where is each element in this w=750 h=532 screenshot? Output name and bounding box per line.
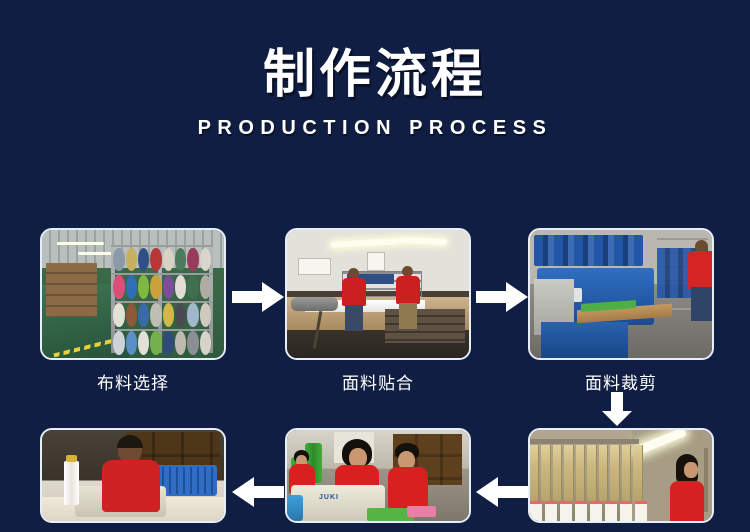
machine-rail	[530, 439, 639, 444]
step-caption-fabric-selection: 布料选择	[40, 369, 226, 394]
flow-arrow-right-icon	[232, 282, 284, 312]
photo-frame-embroidery[interactable]	[528, 428, 714, 523]
step-caption-fabric-cutting: 面料裁剪	[528, 369, 714, 394]
pink-bin	[407, 506, 436, 517]
ceiling-lamp-icon	[57, 242, 104, 245]
process-step-embroidery[interactable]	[528, 428, 714, 532]
wall-poster	[367, 252, 385, 271]
bench-drawers	[385, 309, 465, 342]
fabric-roll	[291, 297, 338, 311]
photo-frame-sewing-line[interactable]	[285, 428, 471, 523]
ceiling-lamp-icon	[78, 252, 114, 255]
process-step-sewing-line[interactable]	[285, 428, 471, 532]
fabric-hoops	[530, 501, 646, 521]
wall-poster	[298, 258, 331, 275]
photo-frame-fabric-selection[interactable]	[40, 228, 226, 360]
page-header: 制作流程 PRODUCTION PROCESS	[0, 0, 750, 140]
page-title-en: PRODUCTION PROCESS	[0, 117, 750, 140]
blue-parts-stack	[534, 235, 643, 266]
blue-cup	[287, 495, 303, 521]
photo-embroidery-machines	[530, 430, 712, 521]
stacked-boxes	[46, 263, 97, 317]
machine-base	[541, 322, 628, 358]
photo-cutting-machine	[530, 230, 712, 358]
door-frame	[704, 448, 708, 512]
flow-arrow-left-icon	[476, 477, 528, 507]
fluorescent-tube-icon	[400, 237, 447, 245]
process-step-fabric-cutting[interactable]: 面料裁剪	[528, 228, 714, 394]
photo-fabric-warehouse	[42, 230, 224, 358]
flow-arrow-left-icon	[232, 477, 284, 507]
flow-arrow-right-icon	[476, 282, 528, 312]
process-step-fabric-selection[interactable]: 布料选择	[40, 228, 226, 394]
thread-spool	[64, 461, 79, 505]
page-title-cn: 制作流程	[0, 48, 750, 103]
photo-frame-fabric-laminating[interactable]	[285, 228, 471, 360]
photo-frame-sewing-single[interactable]	[40, 428, 226, 523]
photo-sewing-operator	[42, 430, 224, 521]
process-step-sewing-single[interactable]	[40, 428, 226, 532]
photo-frame-fabric-cutting[interactable]	[528, 228, 714, 360]
flow-arrow-down-icon	[602, 392, 632, 426]
embroidery-heads	[530, 445, 643, 501]
process-step-fabric-laminating[interactable]: 面料贴合	[285, 228, 471, 394]
photo-laminating-workshop	[287, 230, 469, 358]
fabric-rack	[111, 245, 213, 353]
step-caption-fabric-laminating: 面料贴合	[285, 369, 471, 394]
photo-sewing-line	[287, 430, 469, 521]
